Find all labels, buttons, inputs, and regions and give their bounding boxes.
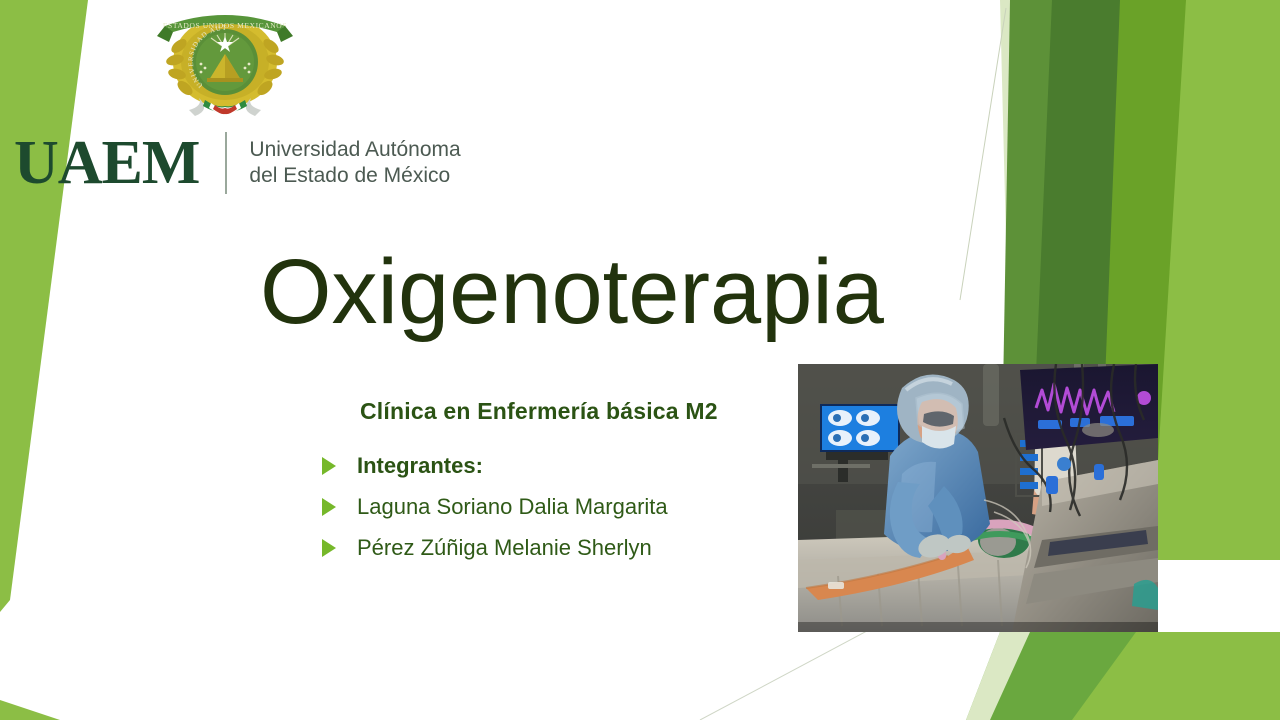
list-item: Pérez Zúñiga Melanie Sherlyn [322, 527, 842, 568]
bottom-left-wedge [0, 700, 60, 720]
list-item: Integrantes: [322, 445, 842, 486]
university-name: Universidad Autónoma del Estado de Méxic… [249, 137, 460, 189]
slide-canvas: ESTADOS UNIDOS MEXICANOS UNIVERSIDAD AUT… [0, 0, 1280, 720]
uaem-wordmark: UAEM Universidad Autónoma del Estado de … [14, 132, 461, 194]
slide-title: Oxigenoterapia [260, 242, 1020, 342]
uaem-letters: UAEM [14, 134, 199, 192]
slide-subtitle: Clínica en Enfermería básica M2 [360, 398, 718, 425]
list-item-label: Laguna Soriano Dalia Margarita [357, 494, 668, 520]
triangle-bullet-icon [322, 457, 336, 475]
uaem-crest-icon: ESTADOS UNIDOS MEXICANOS UNIVERSIDAD AUT… [155, 2, 295, 120]
wordmark-divider [225, 132, 227, 194]
uaem-logo-block: ESTADOS UNIDOS MEXICANOS UNIVERSIDAD AUT… [0, 0, 470, 210]
icu-oxygen-therapy-photo [798, 364, 1158, 632]
list-item: Laguna Soriano Dalia Margarita [322, 486, 842, 527]
triangle-bullet-icon [322, 539, 336, 557]
participants-list: Integrantes: Laguna Soriano Dalia Margar… [322, 445, 842, 568]
university-name-line1: Universidad Autónoma [249, 137, 460, 163]
list-item-label: Integrantes: [357, 453, 483, 479]
university-name-line2: del Estado de México [249, 163, 460, 189]
list-item-label: Pérez Zúñiga Melanie Sherlyn [357, 535, 652, 561]
triangle-bullet-icon [322, 498, 336, 516]
